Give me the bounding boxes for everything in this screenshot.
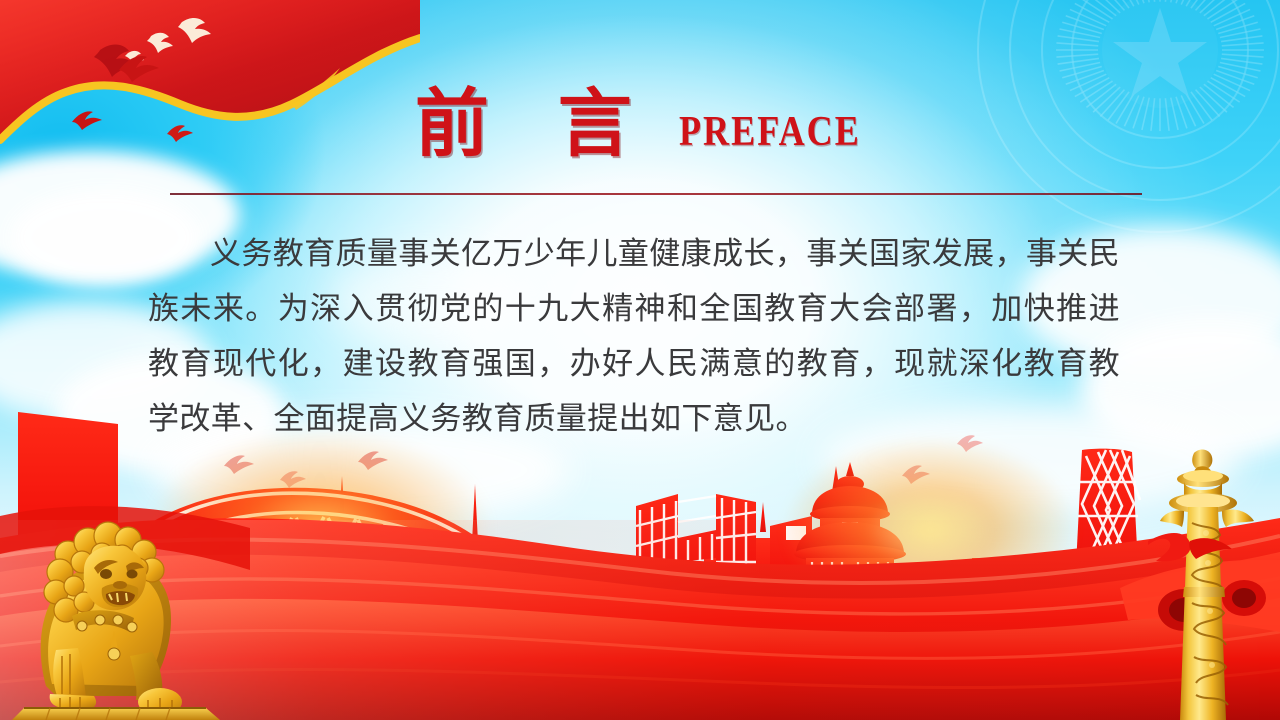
huabiao-column	[1148, 445, 1258, 720]
title-divider	[170, 193, 1142, 195]
guardian-lion-statue	[10, 450, 225, 720]
title-row: 前 言 PREFACE	[0, 88, 1280, 162]
bird-icon	[116, 52, 160, 82]
page-title-english: PREFACE	[679, 108, 861, 156]
body-paragraph: 义务教育质量事关亿万少年儿童健康成长，事关国家发展，事关民族未来。为深入贯彻党的…	[148, 226, 1120, 446]
page-title: 前 言	[390, 88, 657, 162]
slide-preface: 前 言 PREFACE 义务教育质量事关亿万少年儿童健康成长，事关国家发展，事关…	[0, 0, 1280, 720]
body-text-block: 义务教育质量事关亿万少年儿童健康成长，事关国家发展，事关民族未来。为深入贯彻党的…	[148, 226, 1120, 446]
